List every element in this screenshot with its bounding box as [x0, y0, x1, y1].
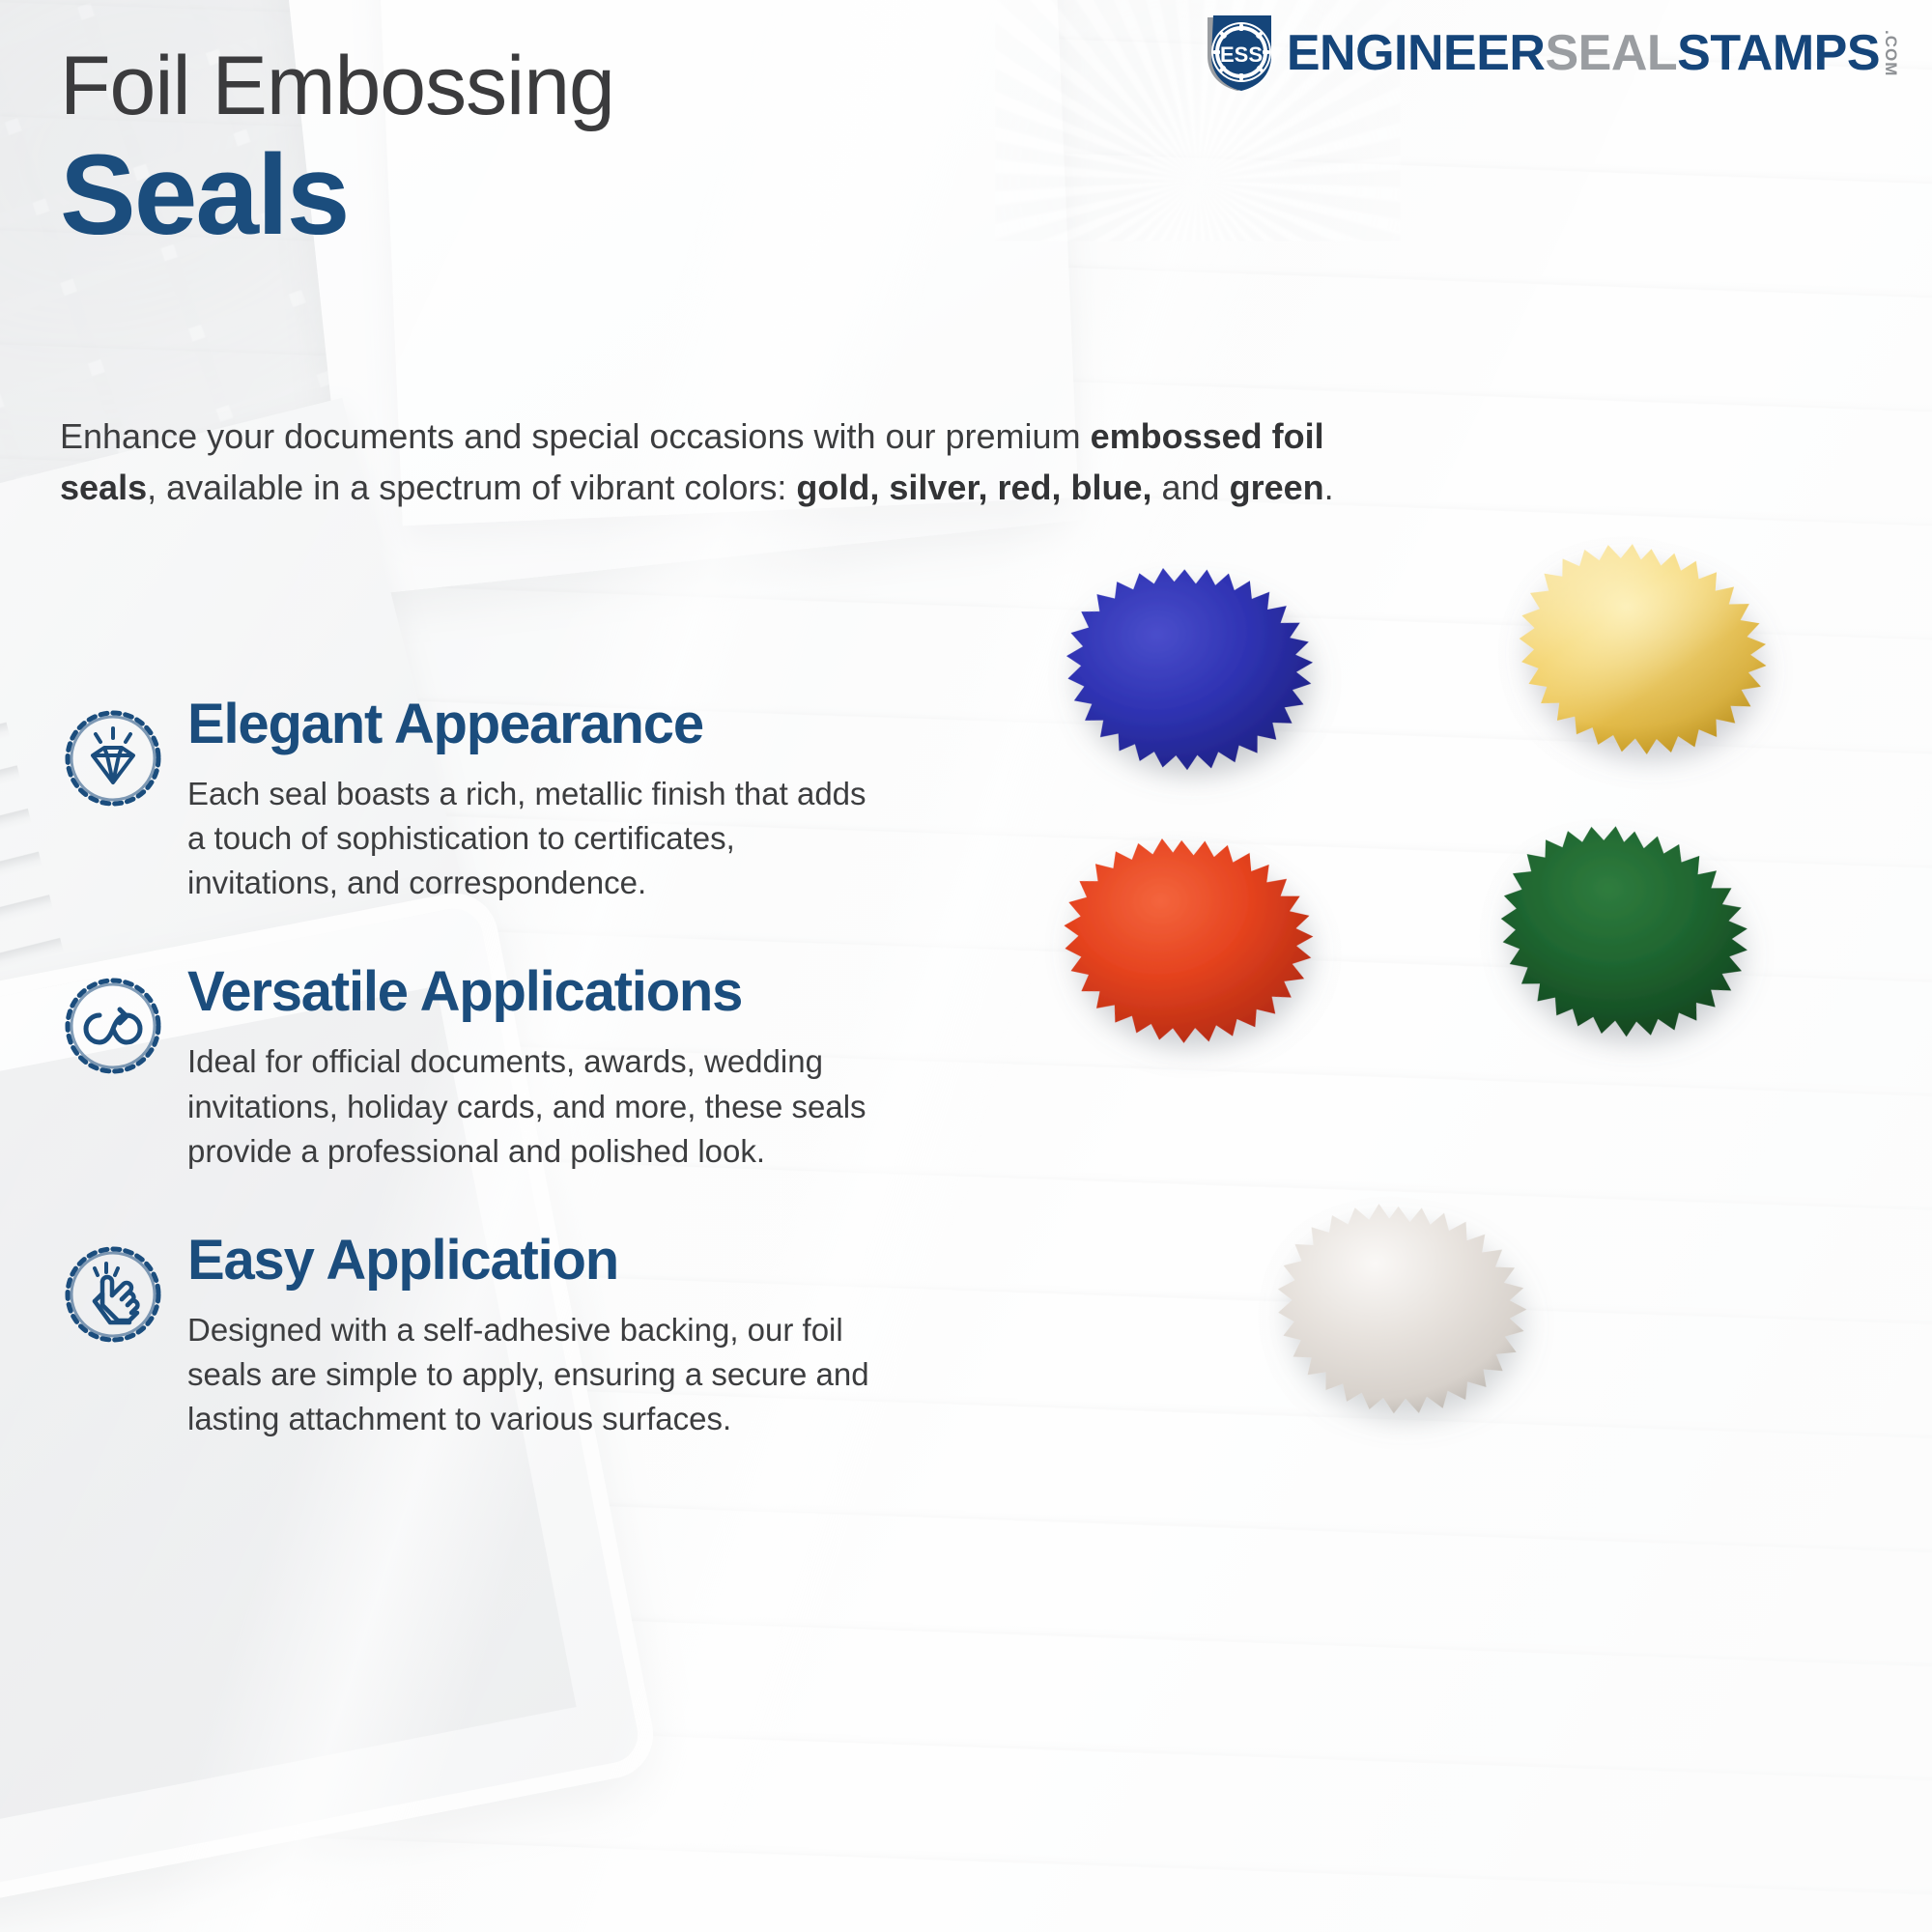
feature-title: Easy Application [187, 1232, 1036, 1291]
feature-description: Each seal boasts a rich, metallic finish… [187, 772, 883, 906]
intro-paragraph: Enhance your documents and special occas… [60, 411, 1412, 514]
seal-swatch-gold [1468, 522, 1816, 840]
logo-text-stamps: STAMPS [1677, 28, 1880, 78]
feature-title: Versatile Applications [187, 963, 1036, 1022]
intro-segment-2: , available in a spectrum of vibrant col… [147, 468, 796, 507]
feature-item: Versatile Applications Ideal for officia… [60, 963, 1036, 1173]
diamond-badge-icon [60, 696, 187, 811]
logo-text-engineer: ENGINEER [1287, 28, 1546, 78]
intro-segment-3: and [1152, 468, 1230, 507]
seal-swatch-silver [1236, 1179, 1575, 1507]
seal-swatch-green [1449, 802, 1797, 1130]
feature-item: Elegant Appearance Each seal boasts a ri… [60, 696, 1036, 905]
logo-text-tld: .COM [1883, 30, 1899, 76]
feature-description: Ideal for official documents, awards, we… [187, 1039, 883, 1174]
feature-description: Designed with a self-adhesive backing, o… [187, 1308, 883, 1442]
intro-bold-green: green [1230, 468, 1324, 507]
page-title: Foil Embossing Seals [60, 44, 1026, 253]
page-title-line2: Seals [60, 137, 1026, 253]
seal-swatch-blue [1034, 541, 1362, 850]
svg-text:ESS: ESS [1220, 43, 1263, 67]
feature-list: Elegant Appearance Each seal boasts a ri… [60, 696, 1036, 1441]
seal-swatch-red [1024, 811, 1362, 1130]
infinity-loop-badge-icon [60, 963, 187, 1079]
page-title-line1: Foil Embossing [60, 44, 1026, 128]
intro-segment-4: . [1324, 468, 1334, 507]
feature-item: Easy Application Designed with a self-ad… [60, 1232, 1036, 1441]
intro-bold-color-list: gold, silver, red, blue, [796, 468, 1151, 507]
tapping-hand-badge-icon [60, 1232, 187, 1348]
brand-logo[interactable]: ESS ENGINEERSEALSTAMPS.COM [1202, 14, 1899, 93]
intro-segment-1: Enhance your documents and special occas… [60, 416, 1091, 456]
logo-text-seal: SEAL [1545, 28, 1677, 78]
ess-gear-shield-icon: ESS [1202, 14, 1273, 93]
seal-color-gallery [1063, 618, 1913, 1816]
brand-logo-wordmark: ENGINEERSEALSTAMPS.COM [1287, 28, 1899, 78]
feature-title: Elegant Appearance [187, 696, 1036, 754]
